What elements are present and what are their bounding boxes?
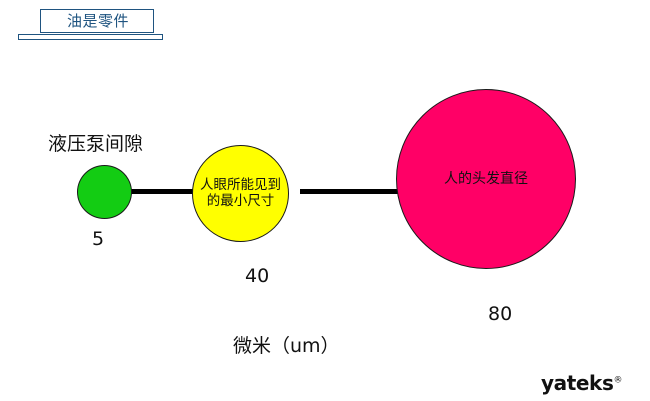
bubble-pink-label: 人的头发直径 (438, 171, 534, 188)
bubble-yellow-label-line1: 人眼所能见到 (200, 178, 281, 194)
axis-unit-label: 微米（um） (233, 331, 340, 358)
bubble-green-title: 液压泵间隙 (48, 129, 143, 156)
header-banner: 油是零件 (18, 9, 164, 41)
page-title: 油是零件 (41, 10, 155, 34)
bubble-yellow-label: 人眼所能见到 的最小尺寸 (194, 178, 287, 210)
slide-canvas: 油是零件 液压泵间隙 5 人眼所能见到 的最小尺寸 40 人的头发直径 80 微… (0, 0, 650, 401)
header-title-box: 油是零件 (40, 9, 154, 33)
bubble-human-hair-diameter: 人的头发直径 (396, 89, 576, 269)
logo-text: yateks (541, 371, 613, 395)
bubble-human-eye-minimum: 人眼所能见到 的最小尺寸 (192, 145, 289, 242)
logo-registered-mark: ® (613, 375, 622, 385)
bubble-yellow-label-line2: 的最小尺寸 (200, 194, 281, 210)
header-underline-bar (18, 34, 163, 40)
yateks-logo: yateks® (541, 371, 622, 395)
bubble-green-value: 5 (92, 228, 104, 250)
bubble-pink-value: 80 (488, 303, 512, 325)
bubble-yellow-value: 40 (245, 265, 269, 287)
bubble-hydraulic-pump-clearance (77, 165, 132, 219)
